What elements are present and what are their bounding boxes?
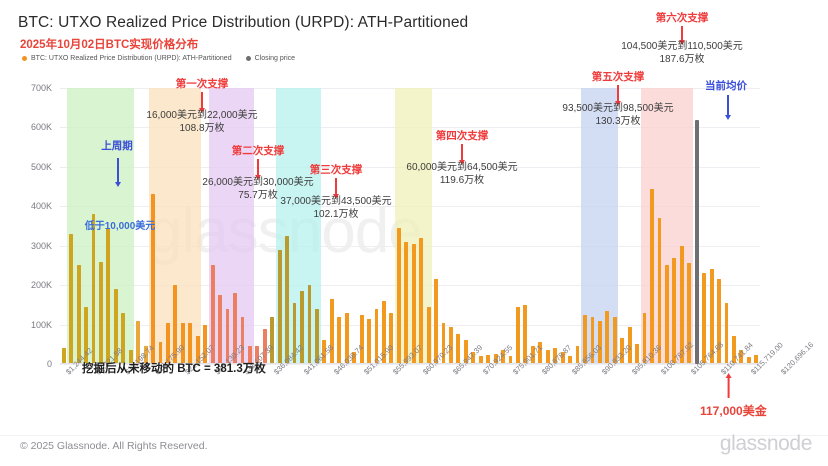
annotation-arrow bbox=[201, 92, 203, 108]
annotation-amount: 102.1万枚 bbox=[246, 209, 426, 222]
legend-item-urpd[interactable]: BTC: UTXO Realized Price Distribution (U… bbox=[22, 55, 232, 62]
bar[interactable] bbox=[121, 313, 125, 364]
bar[interactable] bbox=[360, 315, 364, 364]
y-axis-tick-label: 200K bbox=[8, 280, 52, 290]
annotation-prev-cycle: 上周期 bbox=[62, 138, 172, 153]
annotation-support-5-body: 93,500美元到98,500美元 130.3万枚 bbox=[528, 103, 708, 128]
bar[interactable] bbox=[665, 265, 669, 364]
annotation-amount: 119.6万枚 bbox=[372, 175, 552, 188]
bar[interactable] bbox=[285, 236, 289, 364]
annotation-amount: 187.6万枚 bbox=[582, 54, 782, 67]
annotation-arrow bbox=[117, 158, 119, 182]
legend-dot-icon bbox=[22, 56, 27, 61]
y-axis-tick-label: 600K bbox=[8, 122, 52, 132]
annotation-arrow bbox=[681, 26, 683, 40]
annotation-support-4: 第四次支撑 bbox=[372, 128, 552, 143]
annotation-arrow bbox=[617, 85, 619, 101]
annotation-support-4-body: 60,000美元到64,500美元 119.6万枚 bbox=[372, 162, 552, 187]
bar[interactable] bbox=[278, 250, 282, 364]
annotation-range: 37,000美元到43,500美元 bbox=[246, 196, 426, 209]
annotation-amount: 130.3万枚 bbox=[528, 116, 708, 129]
annotation-current-price: 当前均价 bbox=[676, 78, 776, 93]
chart-subtitle: 2025年10月02日BTC实现价格分布 bbox=[20, 36, 198, 52]
annotation-range: 60,000美元到64,500美元 bbox=[372, 162, 552, 175]
bar[interactable] bbox=[397, 228, 401, 364]
annotation-arrow bbox=[461, 144, 463, 160]
current-price-marker bbox=[695, 120, 699, 364]
bar[interactable] bbox=[241, 317, 245, 364]
annotation-title: 上周期 bbox=[62, 138, 172, 153]
annotation-support-6: 第六次支撑 bbox=[582, 10, 782, 25]
bar[interactable] bbox=[434, 279, 438, 364]
annotation-support-1: 第一次支撑 bbox=[112, 76, 292, 91]
bar[interactable] bbox=[62, 348, 66, 364]
bar[interactable] bbox=[106, 228, 110, 364]
legend-label: Closing price bbox=[255, 55, 295, 62]
annotation-range: 16,000美元到22,000美元 bbox=[112, 110, 292, 123]
bar[interactable] bbox=[658, 218, 662, 364]
annotation-amount: 108.8万枚 bbox=[112, 123, 292, 136]
bar[interactable] bbox=[151, 194, 155, 364]
bar[interactable] bbox=[672, 258, 676, 364]
bar[interactable] bbox=[308, 285, 312, 364]
legend-item-closing-price[interactable]: Closing price bbox=[246, 55, 295, 62]
copyright: © 2025 Glassnode. All Rights Reserved. bbox=[20, 440, 208, 452]
annotation-title: 第一次支撑 bbox=[112, 76, 292, 91]
annotation-support-1-body: 16,000美元到22,000美元 108.8万枚 bbox=[112, 110, 292, 135]
bar[interactable] bbox=[77, 265, 81, 364]
bar[interactable] bbox=[404, 242, 408, 364]
annotation-arrow bbox=[335, 178, 337, 194]
bar[interactable] bbox=[181, 323, 185, 364]
annotation-support-3-body: 37,000美元到43,500美元 102.1万枚 bbox=[246, 196, 426, 221]
bar[interactable] bbox=[605, 311, 609, 364]
bar[interactable] bbox=[389, 313, 393, 364]
annotation-prev-cycle-label: 低于10,000美元 bbox=[60, 221, 180, 234]
never-moved-note: 挖掘后从未移动的 BTC = 381.3万枚 bbox=[82, 360, 266, 376]
brand-logo: glassnode bbox=[720, 432, 812, 456]
chart-page: BTC: UTXO Realized Price Distribution (U… bbox=[0, 0, 828, 466]
bar[interactable] bbox=[702, 273, 706, 364]
bar[interactable] bbox=[650, 189, 654, 364]
current-price-arrow-up bbox=[728, 378, 730, 398]
footer-divider bbox=[0, 435, 828, 436]
bar[interactable] bbox=[427, 307, 431, 364]
bar[interactable] bbox=[598, 321, 602, 364]
annotation-title: 当前均价 bbox=[676, 78, 776, 93]
annotation-arrow bbox=[727, 95, 729, 115]
bar[interactable] bbox=[188, 323, 192, 364]
bar[interactable] bbox=[218, 295, 222, 364]
y-axis-tick-label: 500K bbox=[8, 162, 52, 172]
y-axis-tick-label: 100K bbox=[8, 320, 52, 330]
page-title: BTC: UTXO Realized Price Distribution (U… bbox=[18, 14, 468, 32]
y-axis-tick-label: 300K bbox=[8, 241, 52, 251]
chart-legend: BTC: UTXO Realized Price Distribution (U… bbox=[22, 55, 295, 62]
bar[interactable] bbox=[270, 317, 274, 364]
legend-label: BTC: UTXO Realized Price Distribution (U… bbox=[31, 55, 232, 62]
y-axis-tick-label: 400K bbox=[8, 201, 52, 211]
annotation-title: 第六次支撑 bbox=[582, 10, 782, 25]
bar[interactable] bbox=[337, 317, 341, 364]
bar[interactable] bbox=[516, 307, 520, 364]
legend-dot-icon bbox=[246, 56, 251, 61]
y-axis-tick-label: 0 bbox=[8, 359, 52, 369]
annotation-support-6-body: 104,500美元到110,500美元 187.6万枚 bbox=[582, 41, 782, 66]
annotation-inside-label: 低于10,000美元 bbox=[60, 221, 180, 234]
bar[interactable] bbox=[92, 214, 96, 364]
bar[interactable] bbox=[69, 234, 73, 364]
bar[interactable] bbox=[367, 319, 371, 364]
annotation-title: 第四次支撑 bbox=[372, 128, 552, 143]
annotation-range: 104,500美元到110,500美元 bbox=[582, 41, 782, 54]
bar[interactable] bbox=[725, 303, 729, 364]
annotation-title: 第二次支撑 bbox=[168, 143, 348, 158]
annotation-range: 26,000美元到30,000美元 bbox=[168, 177, 348, 190]
annotation-support-2: 第二次支撑 bbox=[168, 143, 348, 158]
y-axis-tick-label: 700K bbox=[8, 83, 52, 93]
bar[interactable] bbox=[99, 262, 103, 365]
current-price-note: 117,000美金 bbox=[700, 402, 767, 419]
annotation-range: 93,500美元到98,500美元 bbox=[528, 103, 708, 116]
